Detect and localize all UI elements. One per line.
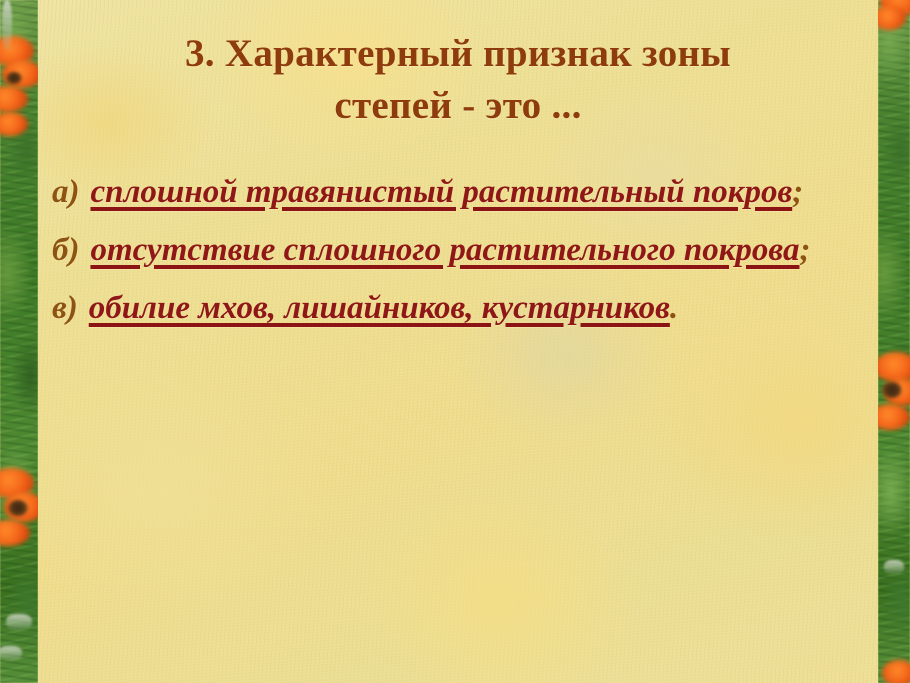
option-punctuation-b: ; [799, 232, 810, 268]
option-punctuation-c: . [670, 290, 678, 326]
option-marker-b: б) [52, 224, 90, 276]
option-text-b: отсутствие сплошного растительного покро… [90, 224, 878, 276]
flower-core-icon [8, 500, 28, 516]
flower-core-icon [882, 382, 902, 398]
left-photo-border [0, 0, 38, 683]
plant-stem-icon [884, 560, 904, 574]
option-marker-c: в) [52, 282, 89, 334]
slide-content: 3. Характерный признак зоны степей - это… [38, 0, 878, 683]
option-text-c-underlined: обилие мхов, лишайников, кустарников [89, 290, 670, 326]
flower-core-icon [6, 72, 22, 84]
option-text-b-underlined: отсутствие сплошного растительного покро… [90, 232, 799, 268]
foliage-texture [878, 0, 910, 683]
title-line-1: 3. Характерный признак зоны [38, 28, 878, 80]
plant-stem-icon [2, 0, 12, 50]
answer-option-b[interactable]: б) отсутствие сплошного растительного по… [52, 224, 878, 276]
option-text-c: обилие мхов, лишайников, кустарников. [89, 282, 878, 334]
answer-option-a[interactable]: а) сплошной травянистый растительный пок… [52, 166, 878, 218]
option-text-a-underlined: сплошной травянистый растительный покров [91, 174, 793, 210]
option-marker-a: а) [52, 166, 91, 218]
option-text-a: сплошной травянистый растительный покров… [91, 166, 879, 218]
flower-petal-icon [882, 660, 910, 683]
slide: 3. Характерный признак зоны степей - это… [0, 0, 910, 683]
plant-stem-icon [0, 646, 22, 660]
page-title: 3. Характерный признак зоны степей - это… [38, 28, 878, 132]
right-photo-border [878, 0, 910, 683]
option-punctuation-a: ; [792, 174, 803, 210]
plant-stem-icon [6, 614, 32, 630]
answer-option-c[interactable]: в) обилие мхов, лишайников, кустарников. [52, 282, 878, 334]
title-line-2: степей - это ... [38, 80, 878, 132]
answer-options-list: а) сплошной травянистый растительный пок… [52, 166, 878, 340]
